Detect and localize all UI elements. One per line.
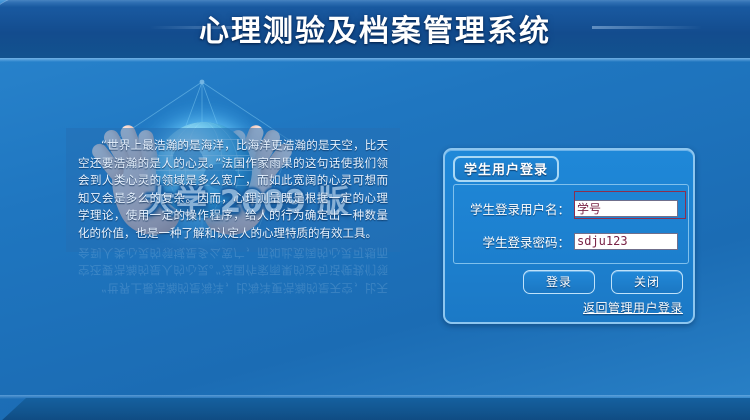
username-input[interactable] [574, 200, 678, 217]
username-label: 学生登录用户名： [454, 199, 574, 218]
intro-quote-box: “世界上最浩瀚的是海洋，比海洋更浩瀚的是天空，比天空还要浩瀚的是人的心灵。”法国… [66, 128, 400, 252]
login-close-button[interactable]: 关闭 [611, 270, 683, 294]
back-to-admin-login-link[interactable]: 返回管理用户登录 [583, 299, 683, 316]
login-button-row: 登录 关闭 [453, 270, 689, 294]
username-field-row: 学生登录用户名： [454, 197, 690, 219]
header-banner: 心理测验及档案管理系统 [0, 0, 750, 58]
intro-quote-text: “世界上最浩瀚的是海洋，比海洋更浩瀚的是天空，比天空还要浩瀚的是人的心灵。”法国… [78, 137, 388, 242]
student-login-panel: 学生用户登录 学生登录用户名： 学生登录密码： 登录 关闭 返回管理用户登录 [443, 148, 695, 324]
page-title: 心理测验及档案管理系统 [0, 6, 750, 50]
footer-bar [0, 392, 750, 420]
password-input[interactable] [574, 233, 678, 250]
app-screen: 心理测验及档案管理系统 [0, 0, 750, 420]
login-submit-button[interactable]: 登录 [523, 270, 595, 294]
footer-background [0, 398, 750, 420]
password-field-row: 学生登录密码： [454, 230, 690, 252]
login-panel-title: 学生用户登录 [453, 156, 559, 182]
password-label: 学生登录密码： [454, 232, 574, 251]
header-underline [0, 58, 750, 62]
login-fieldset: 学生登录用户名： 学生登录密码： [453, 184, 689, 264]
